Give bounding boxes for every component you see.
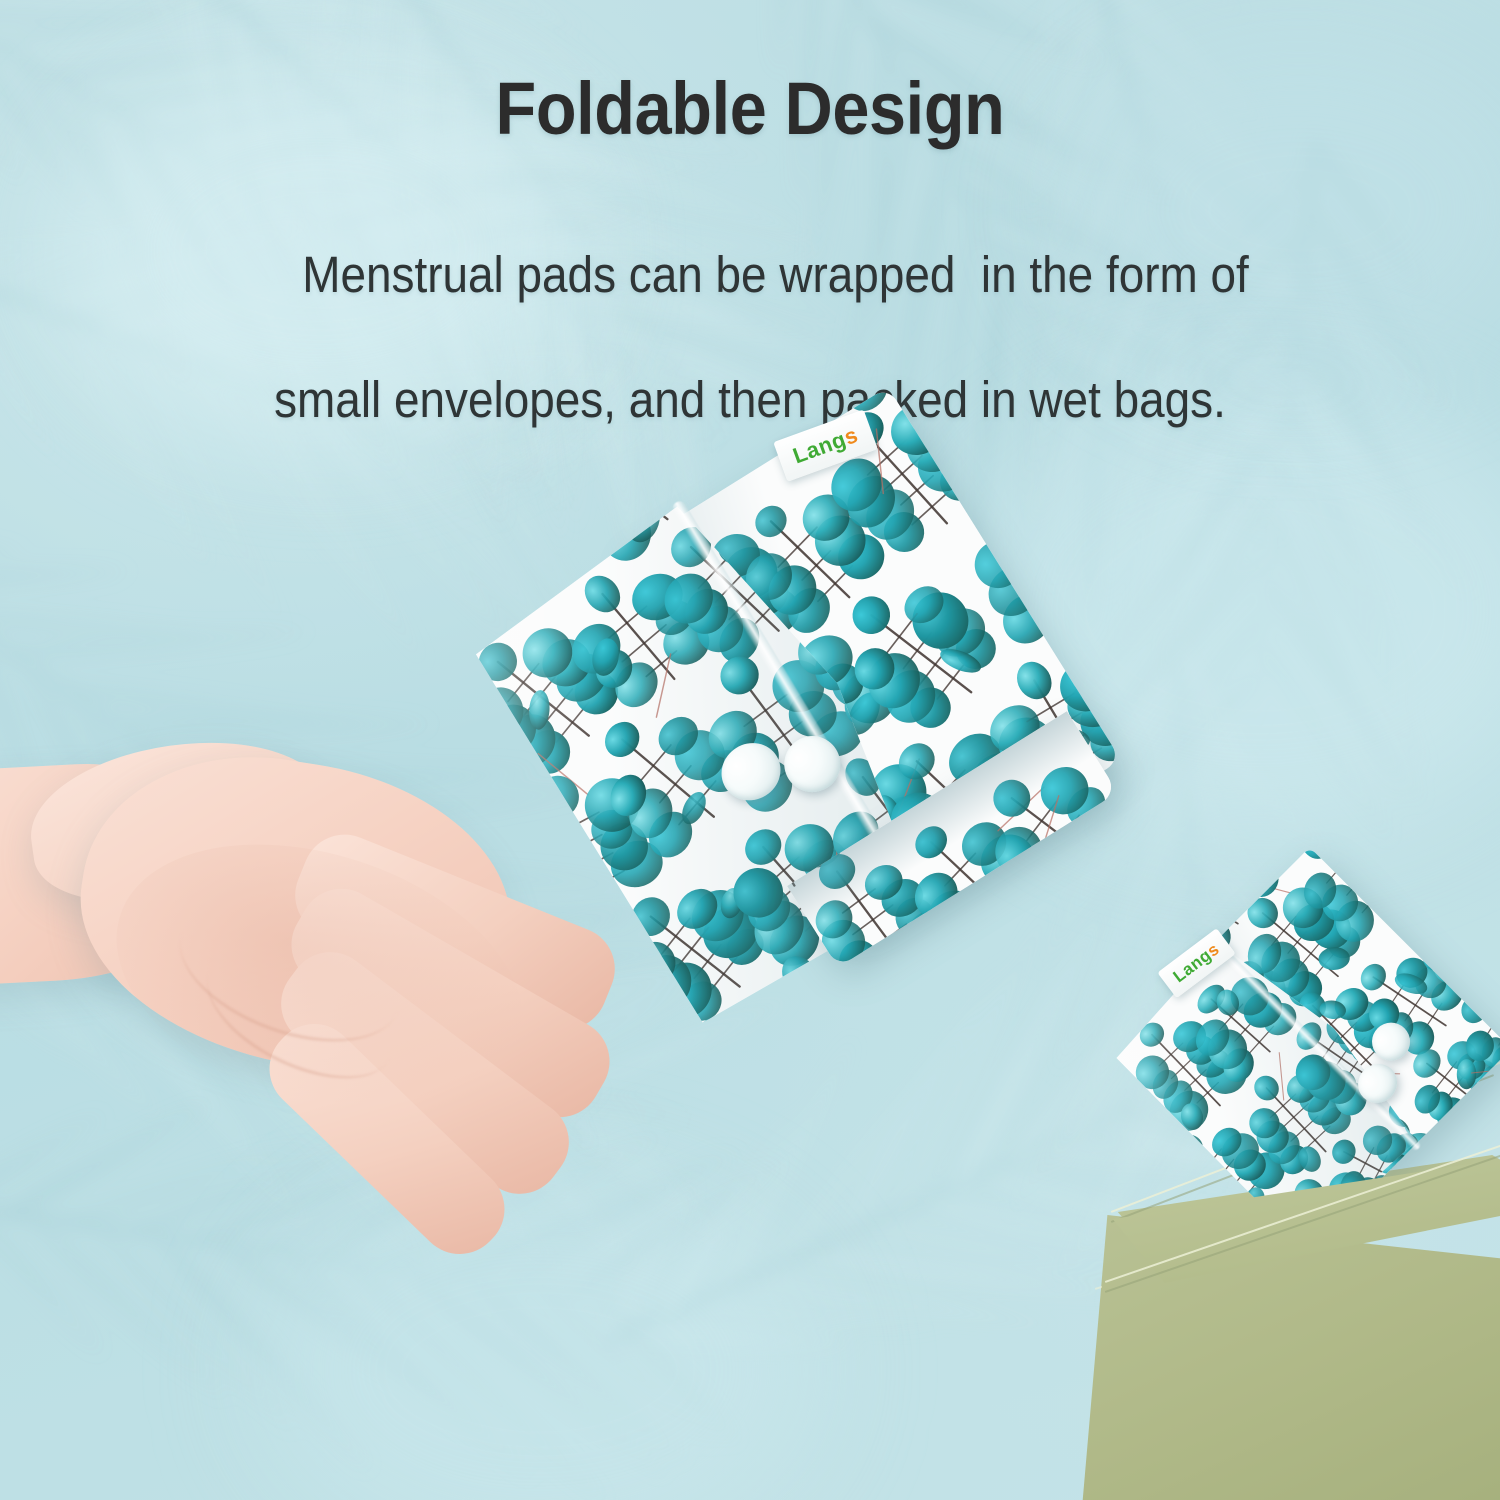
folded-pad-rotation-wrapper: Langs xyxy=(458,378,1131,1042)
product-marketing-image: Foldable Design Menstrual pads can be wr… xyxy=(0,0,1500,1500)
wet-bag-front-overlay xyxy=(1045,1155,1500,1500)
folded-pad-main: Langs xyxy=(505,435,1105,1075)
subtitle-line-2: small envelopes, and then packed in wet … xyxy=(75,369,1425,431)
page-title: Foldable Design xyxy=(75,66,1425,151)
subtitle-line-1: Menstrual pads can be wrapped in the for… xyxy=(302,246,1249,303)
